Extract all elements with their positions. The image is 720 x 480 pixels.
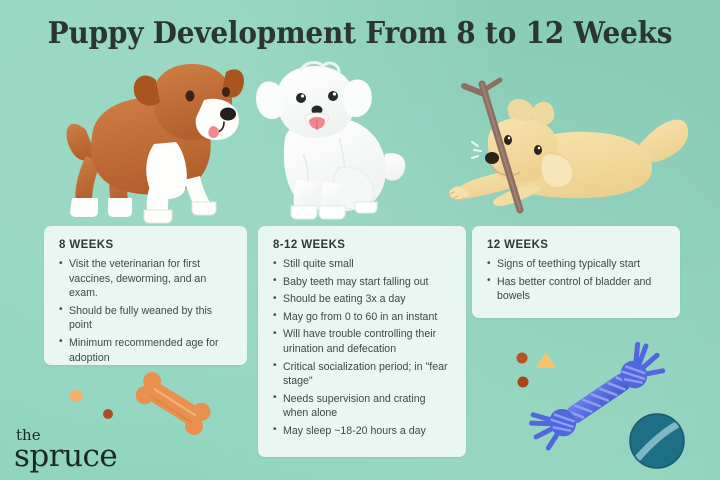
brand-logo[interactable]: the spruce xyxy=(14,428,117,472)
list-item: Has better control of bladder and bowels xyxy=(487,275,666,304)
card-title: 8 WEEKS xyxy=(59,239,233,251)
brand-spruce: spruce xyxy=(14,441,117,472)
list-item: Signs of teething typically start xyxy=(487,257,666,272)
list-item: Visit the veterinarian for first vaccine… xyxy=(59,257,233,301)
infographic-canvas: Puppy Development From 8 to 12 Weeks xyxy=(0,0,720,480)
card-title: 12 WEEKS xyxy=(487,239,666,251)
list-item: Still quite small xyxy=(273,257,452,272)
list-item: May sleep ~18-20 hours a day xyxy=(273,424,452,439)
list-item: Needs supervision and crating when alone xyxy=(273,392,452,421)
list-item: May go from 0 to 60 in an instant xyxy=(273,310,452,325)
list-item: Will have trouble controlling their urin… xyxy=(273,327,452,356)
list-item: Should be fully weaned by this point xyxy=(59,304,233,333)
bullet-list: Visit the veterinarian for first vaccine… xyxy=(59,257,233,365)
treat-crumbs xyxy=(64,386,144,426)
list-item: Critical socialization period; in "fear … xyxy=(273,360,452,389)
card-8-12-weeks: 8-12 WEEKS Still quite small Baby teeth … xyxy=(258,226,466,457)
yellow-puppy-lying-with-stick xyxy=(424,88,692,224)
list-item: Baby teeth may start falling out xyxy=(273,275,452,290)
card-8-weeks: 8 WEEKS Visit the veterinarian for first… xyxy=(44,226,247,365)
list-item: Minimum recommended age for adoption xyxy=(59,336,233,365)
card-12-weeks: 12 WEEKS Signs of teething typically sta… xyxy=(472,226,680,318)
card-title: 8-12 WEEKS xyxy=(273,239,452,251)
treat-crumbs xyxy=(512,348,572,398)
white-fluffy-puppy-sitting xyxy=(243,62,407,224)
page-title: Puppy Development From 8 to 12 Weeks xyxy=(25,16,695,51)
dog-ball-toy xyxy=(628,412,694,478)
brown-and-white-puppy-standing xyxy=(58,52,244,224)
bullet-list: Still quite small Baby teeth may start f… xyxy=(273,257,452,439)
bullet-list: Signs of teething typically start Has be… xyxy=(487,257,666,304)
list-item: Should be eating 3x a day xyxy=(273,292,452,307)
